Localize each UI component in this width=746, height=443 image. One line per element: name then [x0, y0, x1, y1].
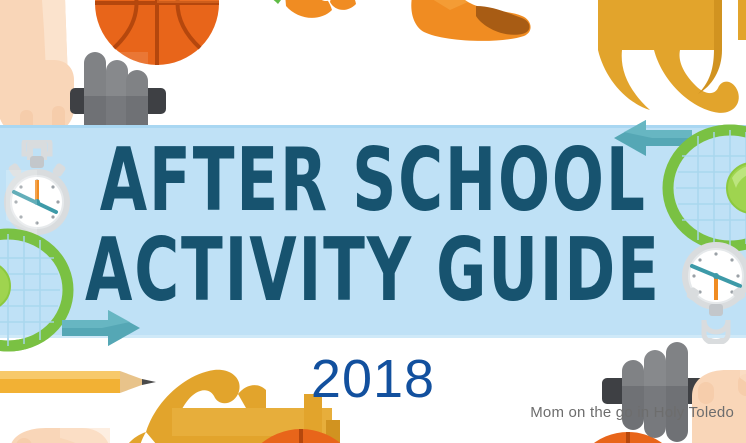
year-label: 2018: [0, 348, 746, 410]
stopwatch-icon: [676, 232, 746, 344]
watermark-text: Mom on the go in Holy Toledo: [530, 404, 734, 421]
basketball-icon: [236, 426, 366, 443]
sneaker-icon: [390, 0, 540, 45]
stopwatch-icon: [0, 140, 76, 240]
trophy-icon: [588, 0, 746, 120]
title-band: [0, 125, 746, 338]
arrow-right-icon: [62, 310, 140, 346]
hand-icon: [0, 424, 130, 443]
poster-canvas: AFTER SCHOOL ACTIVITY GUIDE 2018 Mom on …: [0, 0, 746, 443]
carrot-icon: [240, 0, 360, 46]
